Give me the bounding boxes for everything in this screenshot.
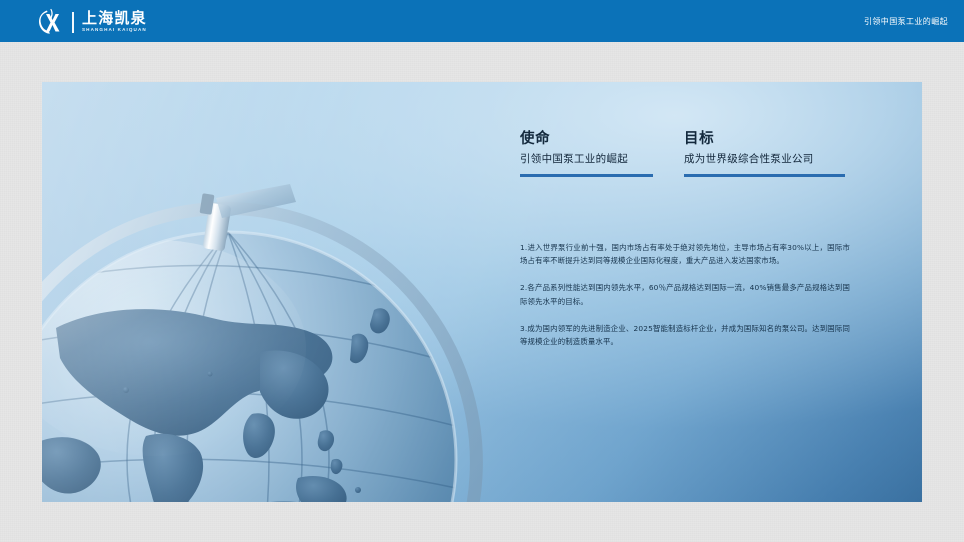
- brand-logo[interactable]: 上海凯泉 SHANGHAI KAIQUAN: [36, 6, 147, 38]
- header-right: 引领中国泵工业的崛起: [864, 0, 948, 42]
- mission-underline: [520, 174, 653, 177]
- brand-name-en: SHANGHAI KAIQUAN: [82, 28, 147, 33]
- paragraph-list: 1.进入世界泵行业前十强，国内市场占有率处于绝对领先地位，主导市场占有率30%以…: [520, 241, 850, 349]
- slide-canvas: 使命 引领中国泵工业的崛起 目标 成为世界级综合性泵业公司 1.进入世界泵行业前…: [42, 82, 922, 502]
- brand-text: 上海凯泉 SHANGHAI KAIQUAN: [82, 11, 147, 33]
- paragraph-item: 1.进入世界泵行业前十强，国内市场占有率处于绝对领先地位，主导市场占有率30%以…: [520, 241, 850, 268]
- goal-underline: [684, 174, 845, 177]
- globe-illustration-icon: [42, 178, 520, 502]
- mission-title: 使命: [520, 130, 660, 148]
- heading-block-goal: 目标 成为世界级综合性泵业公司: [684, 130, 854, 177]
- brand-name-cn: 上海凯泉: [82, 11, 147, 26]
- glass-globe-image: [42, 178, 520, 502]
- slide-content: 使命 引领中国泵工业的崛起 目标 成为世界级综合性泵业公司 1.进入世界泵行业前…: [520, 130, 892, 349]
- paragraph-item: 3.成为国内领军的先进制造企业、2025智能制造标杆企业，并成为国际知名的泵公司…: [520, 322, 850, 349]
- presentation-page: 上海凯泉 SHANGHAI KAIQUAN 引领中国泵工业的崛起: [0, 0, 964, 542]
- paragraph-item: 2.各产品系列性能达到国内领先水平，60％产品规格达到国际一流，40%销售最多产…: [520, 281, 850, 308]
- kaiquan-logo-icon: [36, 8, 66, 36]
- mission-subtitle: 引领中国泵工业的崛起: [520, 153, 660, 167]
- header-bar: 上海凯泉 SHANGHAI KAIQUAN 引领中国泵工业的崛起: [0, 0, 964, 42]
- header-tagline: 引领中国泵工业的崛起: [864, 16, 948, 27]
- headings-row: 使命 引领中国泵工业的崛起 目标 成为世界级综合性泵业公司: [520, 130, 892, 177]
- goal-title: 目标: [684, 130, 854, 148]
- goal-subtitle: 成为世界级综合性泵业公司: [684, 153, 854, 167]
- heading-block-mission: 使命 引领中国泵工业的崛起: [520, 130, 660, 177]
- brand-divider: [72, 12, 74, 33]
